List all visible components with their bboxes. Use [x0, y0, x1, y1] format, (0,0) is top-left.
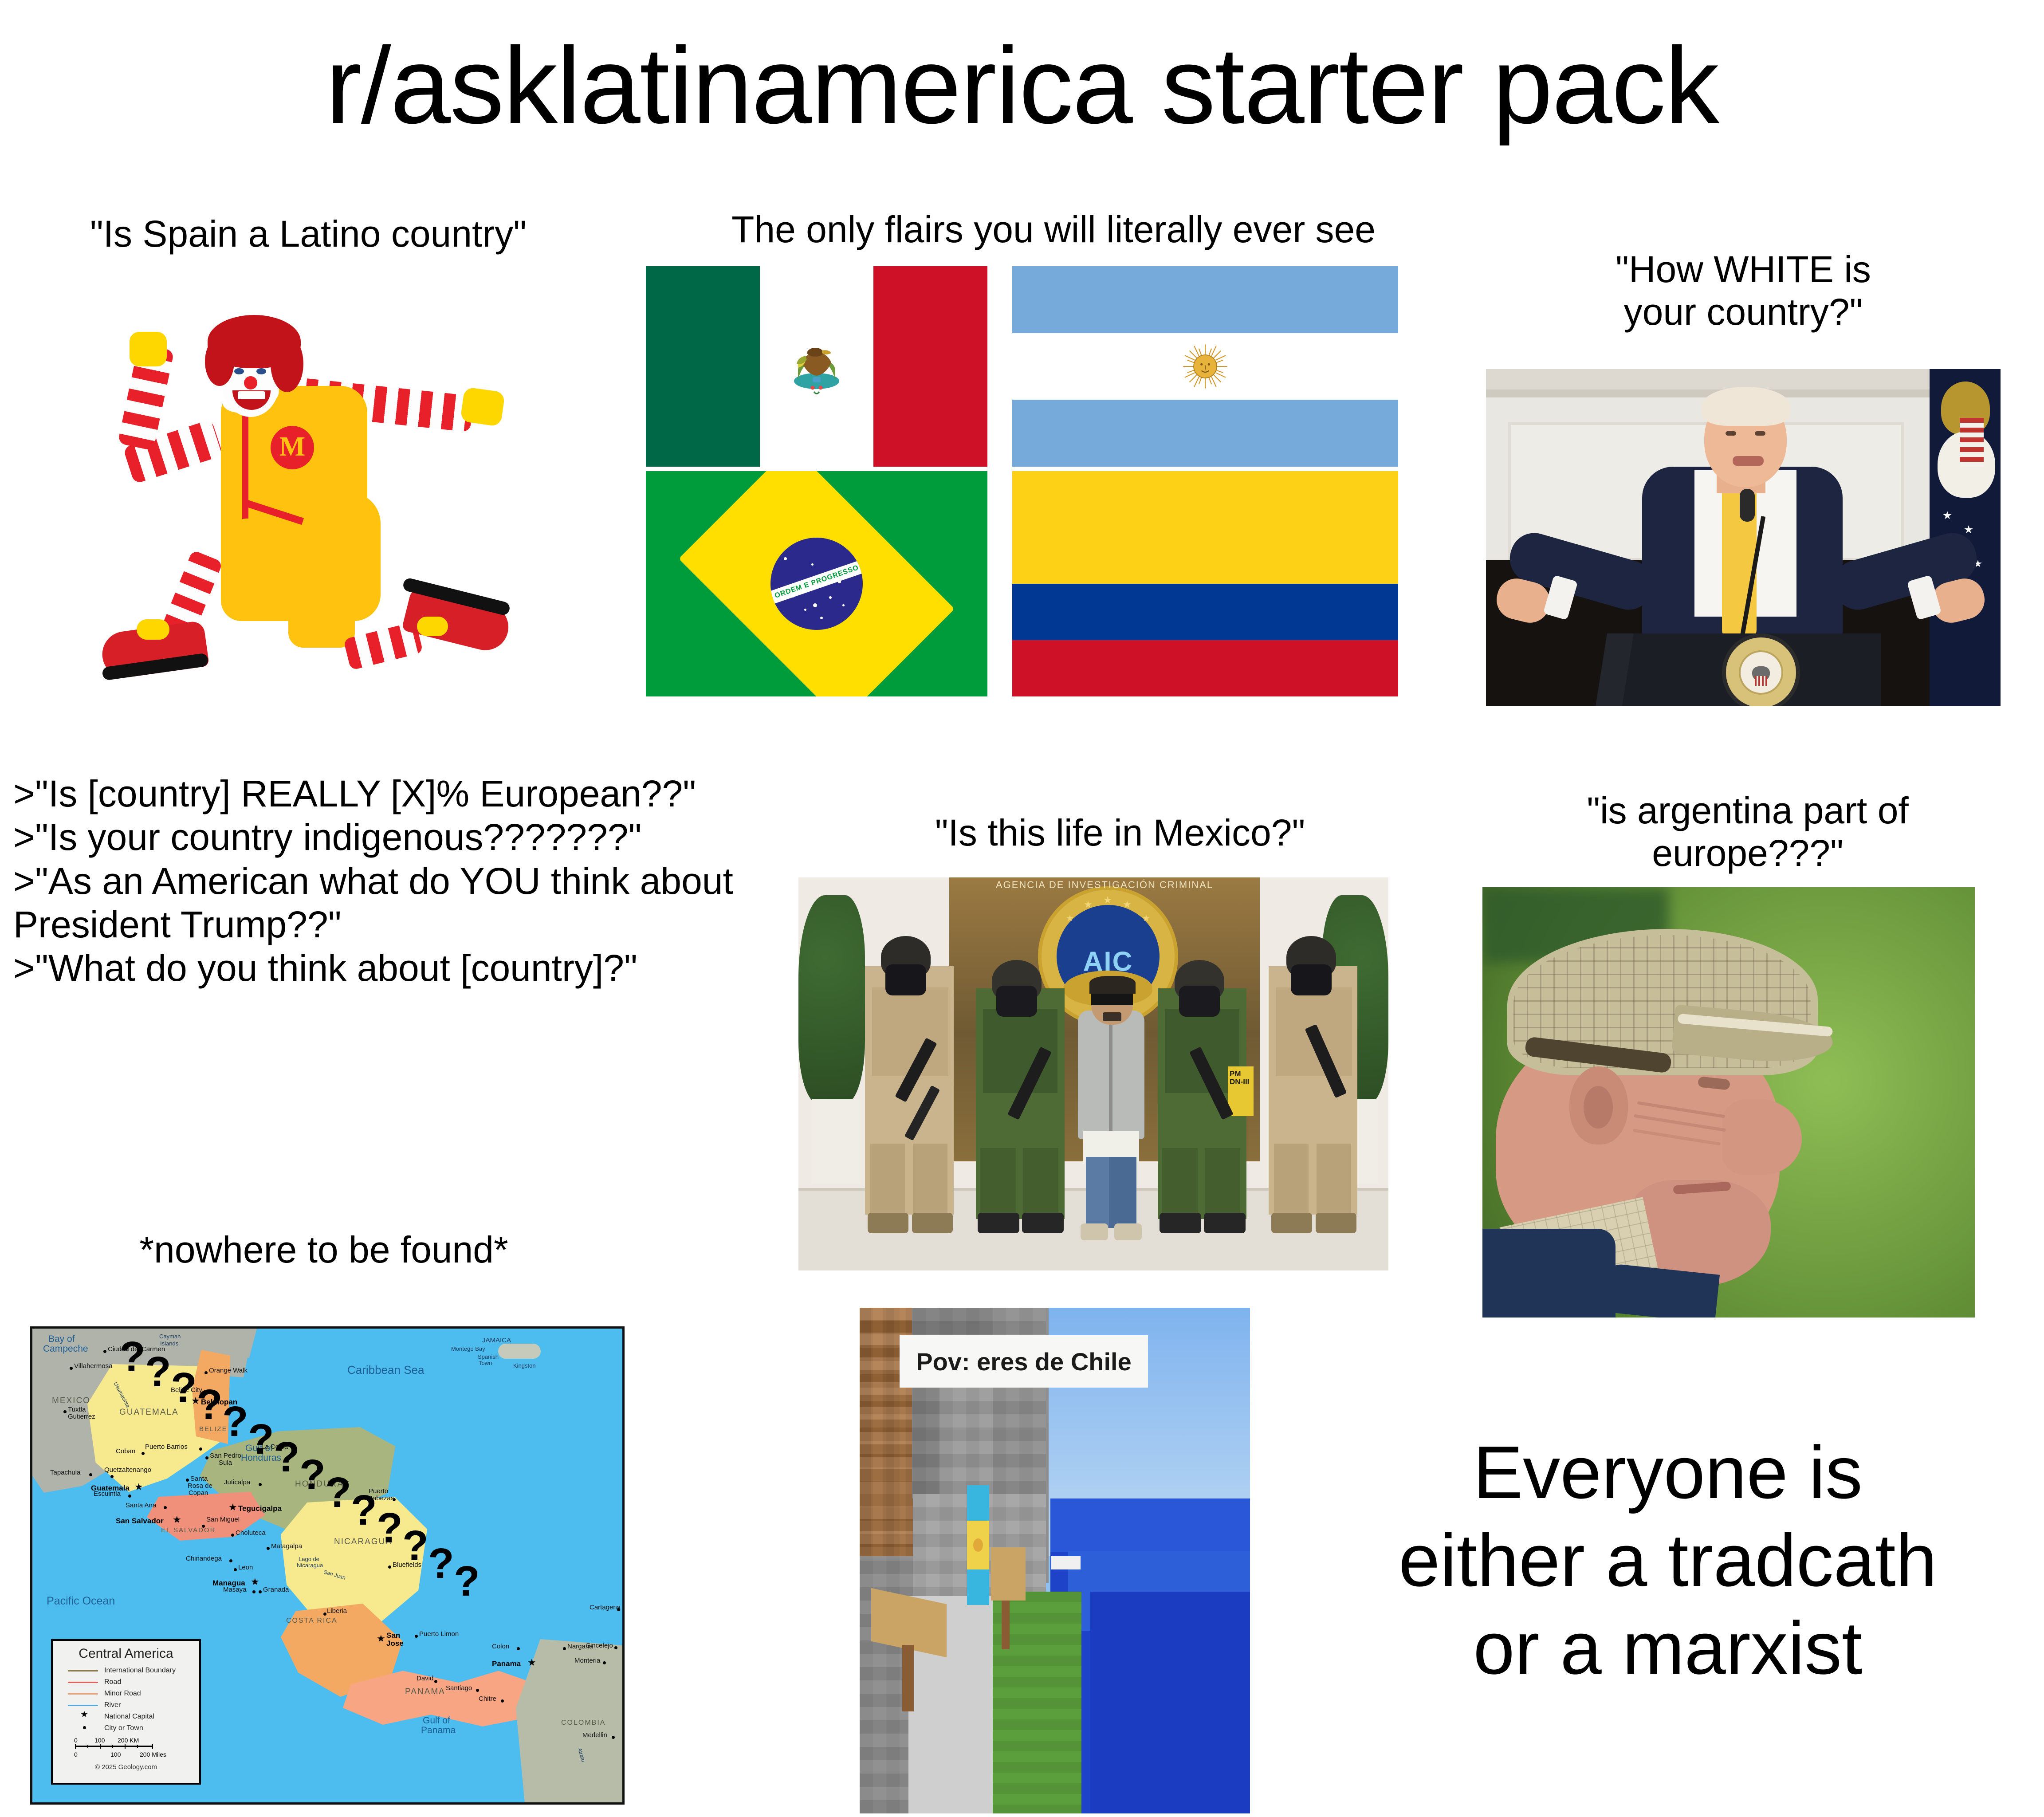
legend-row-label: City or Town: [104, 1724, 143, 1732]
map-credit: © 2025 Geology.com: [53, 1763, 199, 1771]
sun-of-may-icon: [1179, 340, 1231, 393]
caption-how-white-line2: your country?": [1521, 291, 1965, 334]
caption-nowhere-to-be-found: *nowhere to be found*: [40, 1229, 608, 1271]
question-line: >"What do you think about [country]?": [13, 946, 794, 990]
mexican-eagle-icon: [783, 333, 850, 400]
scale-km-100: 100: [94, 1737, 105, 1744]
legend-title: Central America: [53, 1646, 199, 1661]
caption-how-white: "How WHITE is your country?": [1521, 248, 1965, 334]
caption-argentina-line2: europe???": [1521, 832, 1974, 875]
star-icon: ★: [80, 1710, 88, 1719]
censor-bar: [1091, 994, 1133, 1005]
tradcath-marxist-text: Everyone is either a tradcath or a marxi…: [1300, 1428, 2036, 1692]
bigtext-line3: or a marxist: [1300, 1604, 2036, 1692]
legend-row-label: Road: [104, 1678, 121, 1686]
caption-is-this-life-in-mexico: "Is this life in Mexico?": [869, 812, 1371, 854]
caption-how-white-line1: "How WHITE is: [1521, 248, 1965, 291]
caption-is-spain-latino: "Is Spain a Latino country": [18, 213, 599, 256]
mexico-police-image: AIC AGENCIA DE INVESTIGACIÓN CRIMINAL: [798, 877, 1388, 1270]
brazil-motto: ORDEM E PROGRESSO: [774, 564, 860, 600]
flag-colombia: [1012, 471, 1398, 696]
presidential-seal: [1722, 633, 1800, 706]
legend-row-label: River: [104, 1701, 121, 1709]
m-logo: M: [271, 426, 314, 469]
dot-icon: [83, 1726, 86, 1729]
question-line: >"Is [country] REALLY [X]% European??": [13, 772, 794, 815]
glove-right: [460, 387, 505, 427]
caption-only-flairs: The only flairs you will literally ever …: [621, 208, 1486, 251]
arm-patch: PM DN-III: [1228, 1066, 1254, 1116]
celestial-globe-icon: ORDEM E PROGRESSO: [770, 538, 863, 630]
legend-row-label: Minor Road: [104, 1690, 141, 1698]
trump-podium-image: [1486, 369, 2001, 706]
microphone-icon: [1740, 489, 1755, 522]
legend-row-label: National Capital: [104, 1713, 154, 1721]
flag-brazil: ORDEM E PROGRESSO: [646, 471, 987, 696]
hair: [1702, 387, 1790, 426]
plant-left: [798, 895, 865, 1104]
scale-mi-200: 200 Miles: [140, 1751, 166, 1758]
scale-mi-0: 0: [74, 1751, 78, 1758]
scale-mi-100: 100: [110, 1751, 121, 1758]
caption-argentina-line1: "is argentina part of: [1521, 790, 1974, 832]
sign-post: [991, 1547, 1026, 1601]
central-america-map: Bay of Campeche Caribbean Sea Gulf of Ho…: [30, 1326, 625, 1805]
aic-backdrop-text: AGENCIA DE INVESTIGACIÓN CRIMINAL: [985, 879, 1224, 899]
sign-post: [1051, 1556, 1081, 1569]
page-title: r/asklatinamerica starter pack: [0, 31, 2044, 140]
minecraft-overlay-label: Pov: eres de Chile: [900, 1335, 1148, 1388]
ronald-mcdonald-image: M: [80, 279, 537, 679]
minecraft-image: Pov: eres de Chile: [860, 1308, 1250, 1813]
legend-row-label: International Boundary: [104, 1667, 176, 1675]
flag-argentina: [1012, 266, 1398, 467]
question-line: >"Is your country indigenous???????": [13, 815, 794, 859]
old-man-image: [1482, 887, 1975, 1318]
scale-km-0: 0: [74, 1737, 78, 1744]
caption-is-argentina-part-of-europe: "is argentina part of europe???": [1521, 790, 1974, 875]
bigtext-line2: either a tradcath: [1300, 1516, 2036, 1604]
question-line: >"As an American what do YOU think about…: [13, 859, 794, 947]
jacket: [1482, 1229, 1616, 1318]
bigtext-line1: Everyone is: [1300, 1428, 2036, 1516]
scale-km-200: 200 KM: [118, 1737, 139, 1744]
flag-mexico: [646, 266, 987, 467]
map-legend: Central America International Boundary R…: [51, 1639, 201, 1785]
question-list-block: >"Is [country] REALLY [X]% European??" >…: [13, 772, 794, 990]
glove-left: [130, 332, 167, 366]
